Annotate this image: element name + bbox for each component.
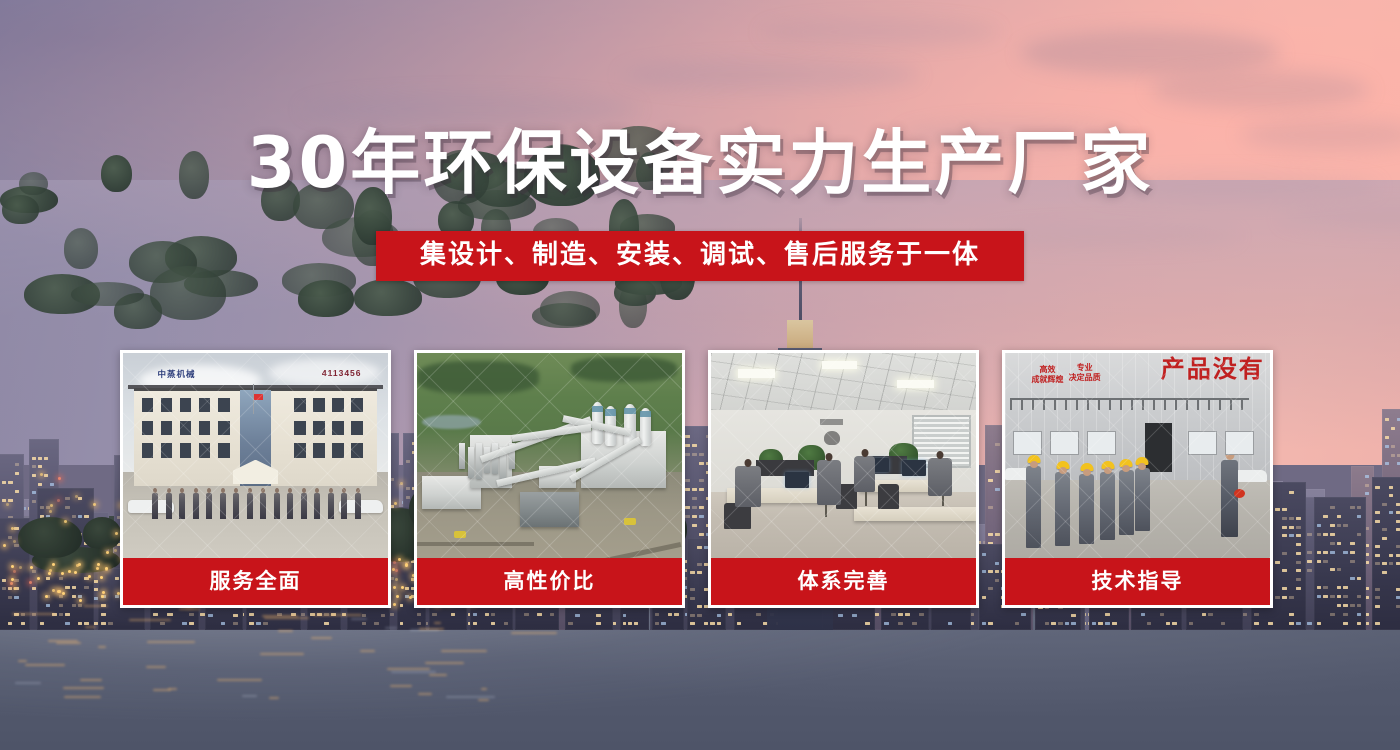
window — [704, 622, 709, 625]
window — [1172, 622, 1176, 625]
window — [690, 622, 695, 625]
window — [50, 483, 54, 486]
light-reflection — [25, 664, 65, 666]
window — [72, 586, 76, 589]
facade-window — [1188, 431, 1217, 456]
street-light — [3, 544, 6, 547]
window — [1330, 542, 1335, 545]
light-reflection — [269, 697, 278, 699]
window — [1282, 552, 1287, 555]
window — [1385, 436, 1389, 439]
window — [575, 614, 580, 617]
cloud — [1020, 30, 1280, 76]
window — [1282, 517, 1287, 520]
window — [1330, 613, 1335, 616]
window — [1296, 622, 1301, 625]
page-title: 30年环保设备实力生产厂家 — [247, 128, 1153, 198]
building — [1314, 497, 1366, 630]
window — [1357, 515, 1362, 518]
window — [1254, 613, 1259, 616]
window — [634, 622, 638, 625]
building-window — [313, 421, 325, 435]
card-caption-bar: 技术指导 — [1005, 558, 1270, 605]
light-reflection — [360, 650, 375, 652]
street-light — [13, 540, 16, 543]
street-light — [64, 520, 67, 523]
photo-treeline — [571, 357, 677, 382]
window — [668, 613, 672, 616]
window — [84, 622, 88, 625]
window — [1357, 533, 1362, 536]
card-caption-text: 服务全面 — [210, 571, 302, 592]
building-window — [180, 398, 192, 412]
window — [1323, 551, 1328, 554]
building-window — [313, 443, 325, 457]
window — [32, 587, 36, 590]
window — [108, 622, 113, 625]
window — [1382, 528, 1387, 531]
staff-member — [179, 493, 185, 519]
window — [1396, 605, 1400, 608]
street-light — [10, 582, 13, 585]
window — [1208, 613, 1212, 616]
window — [1317, 524, 1322, 527]
window — [1391, 454, 1395, 457]
cloud — [300, 92, 640, 126]
window — [101, 622, 106, 625]
window — [1160, 613, 1164, 616]
window — [84, 586, 88, 589]
window — [1289, 622, 1294, 625]
window — [1065, 622, 1070, 625]
window — [78, 604, 82, 607]
window — [1282, 526, 1287, 529]
window — [1307, 569, 1311, 572]
window — [1323, 515, 1328, 518]
window — [40, 622, 44, 625]
building-window — [142, 421, 154, 435]
window — [550, 613, 554, 616]
window — [1307, 551, 1311, 554]
staff-member — [247, 493, 253, 519]
photo-pond — [422, 415, 480, 429]
window — [1357, 622, 1362, 625]
window — [1307, 622, 1311, 625]
window — [200, 613, 205, 616]
window — [14, 596, 18, 599]
window — [2, 587, 6, 590]
window — [1375, 588, 1380, 591]
photo-wall-art-figure — [824, 431, 840, 445]
window — [1317, 551, 1322, 554]
building-window — [142, 398, 154, 412]
street-light — [11, 565, 14, 568]
photo-silo — [640, 408, 651, 446]
window — [78, 622, 82, 625]
light-reflection — [63, 687, 104, 689]
window — [596, 622, 601, 625]
window — [1375, 596, 1380, 599]
window — [1105, 613, 1110, 616]
factory-worker — [1100, 472, 1115, 540]
building-window — [199, 421, 211, 435]
building-window — [332, 421, 344, 435]
window — [1385, 418, 1389, 421]
light-reflection — [15, 682, 41, 684]
window — [1350, 577, 1355, 580]
card-photo-office-interior — [711, 353, 976, 558]
window — [623, 614, 627, 617]
headline-container: 30年环保设备实力生产厂家 — [0, 128, 1400, 198]
window — [153, 613, 158, 616]
window — [524, 613, 528, 616]
light-reflection — [418, 693, 432, 695]
window — [1317, 622, 1322, 625]
photo-phone-number: 4113456 — [322, 368, 362, 378]
card-photo-company-building: 中蒸机械 4113456 — [123, 353, 388, 558]
street-light — [115, 532, 118, 535]
window — [1382, 562, 1387, 565]
window — [491, 613, 495, 616]
window — [40, 506, 44, 509]
street-light — [40, 473, 43, 476]
window — [1375, 520, 1380, 523]
building-window — [218, 443, 230, 457]
window — [1307, 560, 1311, 563]
window — [1289, 517, 1294, 520]
exhaust-stack — [459, 443, 465, 469]
building-window — [332, 443, 344, 457]
window — [1375, 486, 1380, 489]
window — [1296, 578, 1301, 581]
window — [1317, 586, 1322, 589]
building-window — [313, 398, 325, 412]
window — [374, 622, 378, 625]
window — [84, 577, 88, 580]
window — [1389, 511, 1394, 514]
window — [38, 457, 42, 460]
building-window — [218, 421, 230, 435]
window — [1382, 571, 1387, 574]
light-reflection — [419, 628, 444, 630]
window — [1389, 486, 1394, 489]
light-reflection — [425, 662, 464, 664]
window — [72, 604, 76, 607]
window — [1166, 622, 1170, 625]
staff-member — [274, 493, 280, 519]
building-window — [161, 421, 173, 435]
light-reflection — [434, 622, 440, 624]
window — [15, 472, 19, 475]
feature-card[interactable]: 高性价比 — [414, 350, 685, 608]
window — [15, 490, 19, 493]
window — [233, 614, 237, 617]
window — [189, 622, 194, 625]
window — [728, 613, 732, 616]
street-light — [13, 570, 16, 573]
street-light — [49, 569, 52, 572]
window — [1296, 534, 1301, 537]
staff-member — [355, 493, 361, 519]
window — [78, 515, 82, 518]
worker-face — [1059, 467, 1067, 474]
window — [737, 622, 742, 625]
window — [1330, 506, 1335, 509]
window — [655, 622, 659, 625]
window — [1317, 533, 1322, 536]
feature-card[interactable]: 中蒸机械 4113456 服务全面 — [120, 350, 391, 608]
feature-card-list: 中蒸机械 4113456 服务全面 — [120, 350, 1280, 608]
window — [1289, 534, 1294, 537]
window — [1323, 533, 1328, 536]
window — [1396, 545, 1400, 548]
window — [1296, 552, 1301, 555]
window — [182, 622, 187, 625]
window — [2, 481, 6, 484]
window — [84, 515, 88, 518]
window — [1337, 568, 1342, 571]
window — [1389, 554, 1394, 557]
photo-roof-railing — [1010, 398, 1249, 410]
window — [690, 614, 695, 617]
quay-light — [37, 577, 40, 580]
street-light — [114, 549, 117, 552]
quay-light — [68, 570, 71, 573]
feature-card[interactable]: 产品没有 专业 决定品质 高效 成就辉煌 — [1002, 350, 1273, 608]
window — [432, 613, 436, 616]
window — [14, 544, 18, 547]
factory-worker — [1135, 468, 1150, 532]
photo-employee — [817, 460, 841, 505]
light-reflection — [179, 608, 200, 610]
window — [948, 622, 953, 625]
window — [1350, 604, 1355, 607]
window — [59, 595, 63, 598]
photo-slogan-line-2: 高效 — [1040, 365, 1056, 374]
window — [905, 613, 910, 616]
window — [362, 614, 366, 617]
light-reflection — [18, 660, 27, 662]
worker-face — [1083, 469, 1091, 476]
window — [263, 622, 268, 625]
building-window — [161, 443, 173, 457]
photo-ceiling-light — [738, 369, 775, 377]
window — [21, 622, 25, 625]
photo-wall-slogan-secondary: 专业 决定品质 — [1069, 363, 1101, 383]
staff-member — [193, 493, 199, 519]
window — [1323, 586, 1328, 589]
staff-member — [260, 493, 266, 519]
window — [65, 586, 69, 589]
light-reflection — [262, 615, 298, 617]
window — [59, 613, 63, 616]
cloud — [1150, 70, 1370, 110]
window — [1350, 506, 1355, 509]
window — [1289, 491, 1294, 494]
worker-face — [1122, 465, 1130, 472]
light-reflection — [146, 666, 166, 668]
quay-light — [88, 575, 91, 578]
window — [400, 622, 404, 625]
window — [93, 588, 97, 591]
photo-wall-slogan-tertiary: 高效 成就辉煌 — [1032, 365, 1064, 385]
photo-slogan-line-1: 专业 — [1077, 363, 1093, 372]
photo-factory-door — [1145, 423, 1172, 472]
window — [115, 595, 120, 598]
window — [362, 622, 366, 625]
window — [44, 457, 48, 460]
building-window — [142, 443, 154, 457]
photo-shed — [520, 492, 578, 527]
window — [78, 595, 82, 598]
window — [697, 614, 702, 617]
hero-banner: 30年环保设备实力生产厂家 集设计、制造、安装、调试、售后服务于一体 — [0, 0, 1400, 750]
window — [59, 577, 63, 580]
photo-monitor — [785, 472, 809, 488]
window — [1389, 494, 1394, 497]
light-reflection — [260, 653, 304, 655]
window — [8, 481, 12, 484]
window — [1254, 622, 1259, 625]
quay-light — [11, 578, 14, 581]
window — [1396, 511, 1400, 514]
light-reflection — [12, 613, 55, 615]
cloud — [620, 58, 920, 92]
building-window — [218, 398, 230, 412]
window — [1337, 524, 1342, 527]
light-reflection — [85, 626, 96, 628]
light-reflection — [441, 650, 487, 652]
cloud — [760, 18, 1000, 46]
window — [1365, 484, 1368, 487]
building-window — [351, 443, 363, 457]
window — [1382, 503, 1387, 506]
facade-window — [1050, 431, 1079, 456]
window — [1051, 622, 1056, 625]
factory-worker — [1055, 472, 1070, 546]
photo-supervisor — [1221, 460, 1238, 538]
window — [233, 622, 237, 625]
quay-light — [105, 567, 108, 570]
light-reflection — [264, 617, 308, 619]
window — [1385, 445, 1389, 448]
light-reflection — [217, 679, 262, 681]
window — [838, 614, 843, 617]
window — [1296, 569, 1301, 572]
window — [1391, 427, 1395, 430]
building-window — [294, 421, 306, 435]
window — [1296, 587, 1301, 590]
street-light — [19, 566, 22, 569]
building-window — [294, 398, 306, 412]
light-reflection — [80, 679, 102, 681]
window — [208, 614, 212, 617]
staff-member — [233, 493, 239, 519]
window — [8, 536, 12, 539]
staff-member — [314, 493, 320, 519]
window — [1357, 506, 1362, 509]
window — [1350, 560, 1355, 563]
window — [1282, 587, 1287, 590]
window — [167, 613, 172, 616]
window — [390, 613, 394, 616]
window — [417, 613, 421, 616]
staff-member — [287, 493, 293, 519]
worker-face — [1104, 467, 1112, 474]
window — [1375, 622, 1380, 625]
staff-member — [301, 493, 307, 519]
card-caption-text: 高性价比 — [504, 571, 596, 592]
window — [1307, 533, 1311, 536]
window — [1141, 613, 1145, 616]
window — [1343, 524, 1348, 527]
window — [1296, 526, 1301, 529]
feature-card[interactable]: 体系完善 — [708, 350, 979, 608]
window — [1317, 595, 1322, 598]
window — [1350, 551, 1355, 554]
light-reflection — [478, 699, 489, 701]
window — [14, 579, 18, 582]
window — [865, 622, 870, 625]
building-window — [332, 398, 344, 412]
window — [32, 457, 36, 460]
window — [1375, 605, 1380, 608]
card-caption-bar: 体系完善 — [711, 558, 976, 605]
window — [982, 622, 987, 625]
window — [1365, 475, 1368, 478]
window — [504, 622, 508, 625]
light-reflection — [56, 642, 81, 644]
quay-light — [52, 563, 55, 566]
window — [884, 622, 889, 625]
window — [249, 613, 254, 616]
window — [72, 515, 76, 518]
window — [1396, 503, 1400, 506]
window — [1282, 596, 1287, 599]
window — [1343, 595, 1348, 598]
photo-monitor — [902, 460, 926, 476]
window — [596, 614, 601, 617]
window — [1337, 542, 1342, 545]
staff-member — [152, 493, 158, 519]
window — [417, 622, 421, 625]
window — [1396, 520, 1400, 523]
window — [1357, 577, 1362, 580]
window — [1282, 534, 1287, 537]
window — [1105, 622, 1110, 625]
building-window — [199, 398, 211, 412]
light-reflection — [446, 696, 495, 698]
window — [324, 622, 329, 625]
factory-worker — [1119, 470, 1134, 536]
window — [256, 622, 261, 625]
window — [1058, 622, 1063, 625]
window — [1382, 537, 1387, 540]
street-light — [13, 587, 16, 590]
photo-chair — [878, 484, 899, 509]
photo-wall-slogan: 产品没有 — [1161, 357, 1265, 381]
window — [891, 613, 896, 616]
window — [1289, 596, 1294, 599]
window — [65, 506, 69, 509]
window — [1021, 613, 1026, 616]
tree — [298, 280, 354, 317]
photo-loader — [624, 518, 636, 525]
light-reflection — [278, 630, 294, 632]
subtitle-banner: 集设计、制造、安装、调试、售后服务于一体 — [376, 231, 1024, 281]
window — [1071, 614, 1076, 617]
card-caption-bar: 服务全面 — [123, 558, 388, 605]
